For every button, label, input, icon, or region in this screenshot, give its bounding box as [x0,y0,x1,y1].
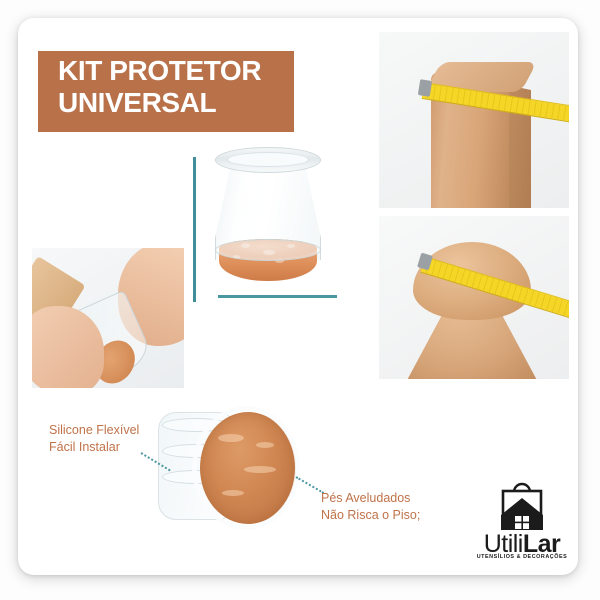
silicone-cap-hero [207,147,329,290]
cap-rim [192,406,300,530]
accent-rule-horizontal [218,295,337,298]
photo-hands-install [32,248,184,388]
shopping-bag-house-icon [474,478,570,530]
photo-round-leg-measure [379,216,569,379]
cap-collar-inner [227,152,309,167]
callout-silicone-feature: Silicone Flexível Fácil Instalar [49,422,139,456]
brand-tagline: UTENSÍLIOS & DECORAÇÕES [474,554,570,560]
tape-hook-icon [418,79,432,97]
callout-felt-feature: Pés Aveludados Não Risca o Piso; [321,490,420,524]
product-banner-image: KIT PROTETOR UNIVERSAL [0,0,600,600]
cap-highlight [245,169,258,241]
cap-base-ring [215,239,321,261]
photo-square-leg-measure [379,32,569,208]
silicone-cap-felt [158,396,298,536]
page-title: KIT PROTETOR UNIVERSAL [58,55,308,119]
brand-logo: UtiliLar UTENSÍLIOS & DECORAÇÕES [474,478,570,568]
accent-rule-vertical [193,157,196,302]
